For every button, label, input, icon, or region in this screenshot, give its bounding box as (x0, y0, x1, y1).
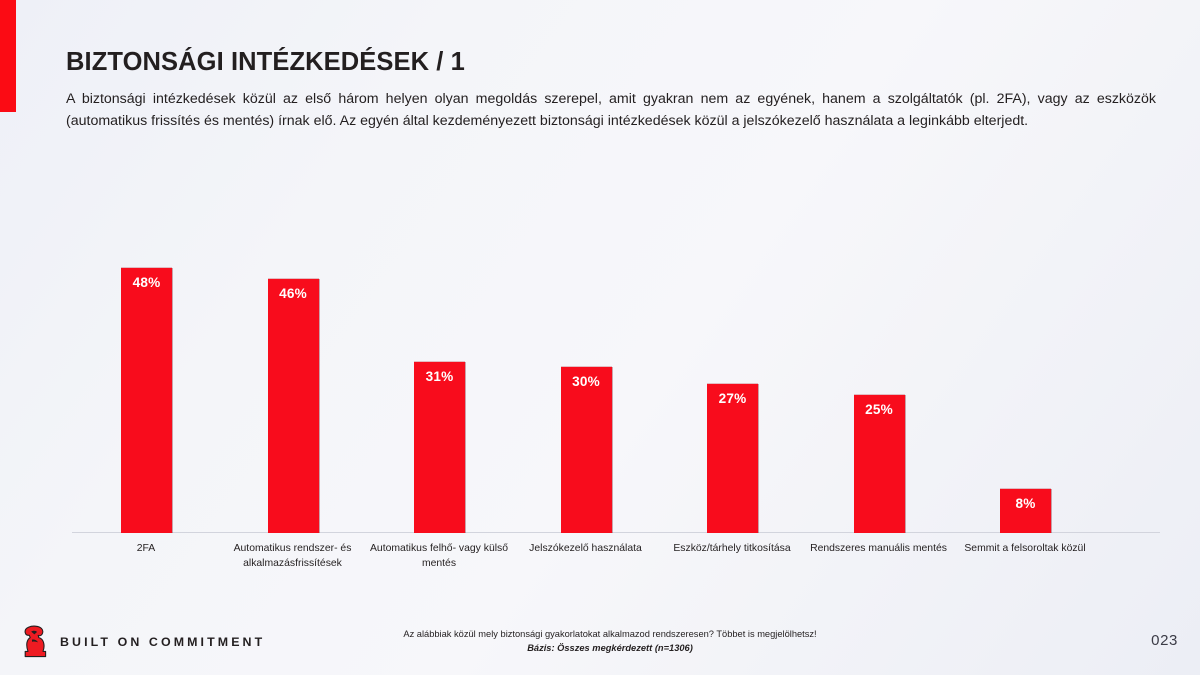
bar-value-label: 46% (268, 286, 319, 301)
bar-category-label: Automatikus felhő- vagy külső mentés (366, 541, 512, 571)
bar-value-label: 27% (707, 391, 758, 406)
chart-bar[interactable]: 8% (1000, 489, 1051, 533)
bar-category-label: Automatikus rendszer- és alkalmazásfriss… (220, 541, 366, 571)
chart-bar[interactable]: 30% (561, 367, 612, 533)
bar-value-label: 30% (561, 374, 612, 389)
bar-category-label: Jelszókezelő használata (513, 541, 659, 556)
brand-name: BUILT ON COMMITMENT (60, 635, 265, 649)
bar-value-label: 25% (854, 402, 905, 417)
bar-value-label: 31% (414, 369, 465, 384)
bar-category-label: Rendszeres manuális mentés (806, 541, 952, 556)
survey-question-note: Az alábbiak közül mely biztonsági gyakor… (300, 627, 920, 656)
bar-value-label: 8% (1000, 496, 1051, 511)
survey-base: Bázis: Összes megkérdezett (n=1306) (300, 641, 920, 655)
bar-category-label: 2FA (73, 541, 219, 556)
slide: BIZTONSÁGI INTÉZKEDÉSEK / 1 A biztonsági… (0, 0, 1200, 675)
chess-knight-logo-icon (22, 625, 48, 659)
bar-category-label: Semmit a felsoroltak közül (952, 541, 1098, 556)
chart-bar[interactable]: 27% (707, 384, 758, 533)
chart-bar[interactable]: 48% (121, 268, 172, 533)
chart-bar[interactable]: 25% (854, 395, 905, 533)
bar-group: 48%2FA (73, 268, 219, 675)
page-number: 023 (1151, 632, 1178, 649)
slide-footer: BUILT ON COMMITMENT Az alábbiak közül me… (0, 615, 1200, 675)
brand-lockup: BUILT ON COMMITMENT (22, 625, 265, 659)
bar-value-label: 48% (121, 275, 172, 290)
chart-bar[interactable]: 31% (414, 362, 465, 533)
survey-question: Az alábbiak közül mely biztonsági gyakor… (300, 627, 920, 641)
bar-category-label: Eszköz/tárhely titkosítása (659, 541, 805, 556)
bar-chart: 48%2FA46%Automatikus rendszer- és alkalm… (0, 0, 1200, 675)
chart-bar[interactable]: 46% (268, 279, 319, 533)
